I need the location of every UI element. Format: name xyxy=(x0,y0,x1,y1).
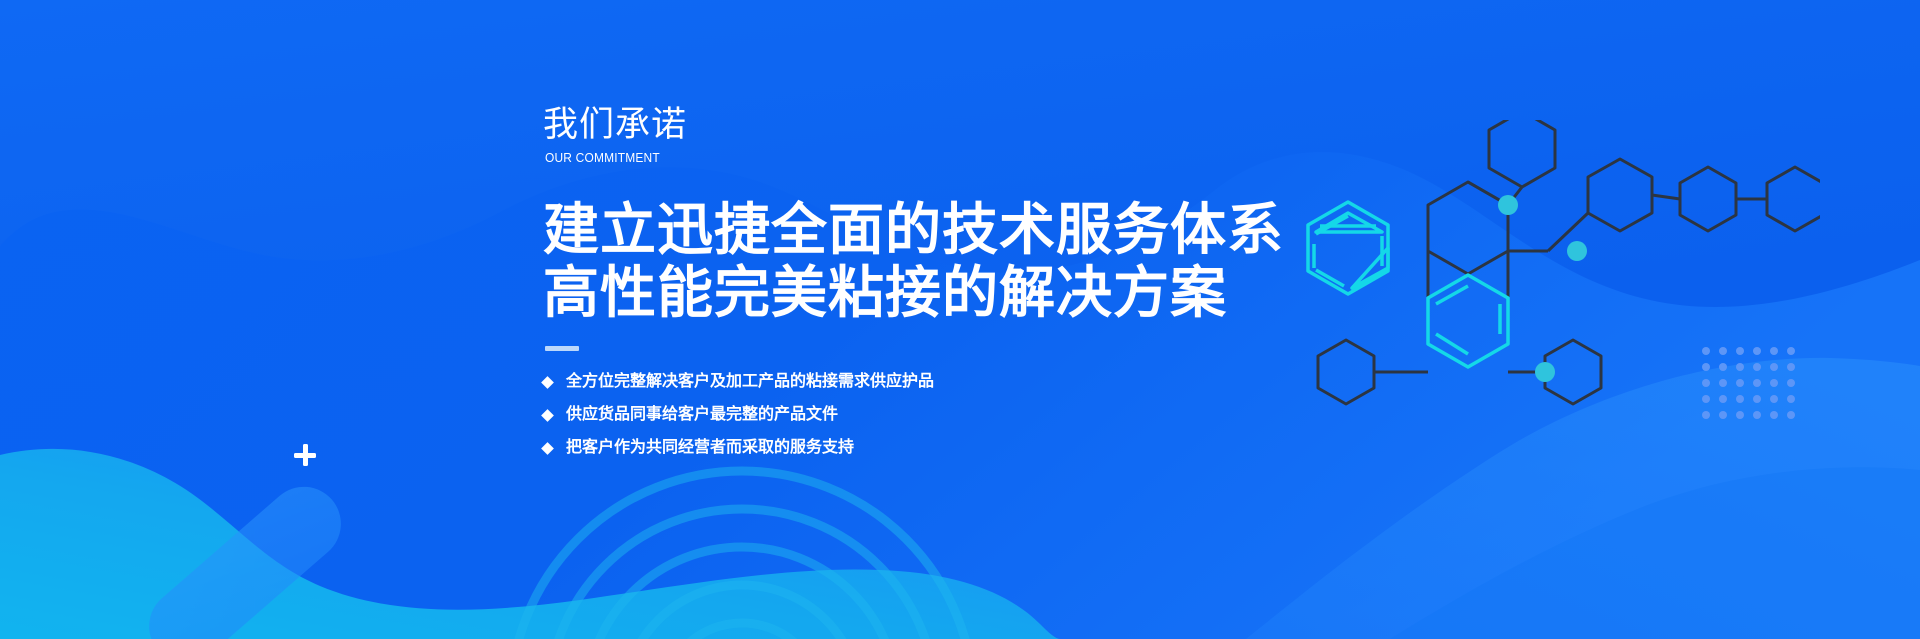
headline: 建立迅捷全面的技术服务体系 高性能完美粘接的解决方案 xyxy=(543,198,1303,324)
commitment-list: 全方位完整解决客户及加工产品的粘接需求供应护品 供应货品同事给客户最完整的产品文… xyxy=(543,371,1303,459)
plus-icon xyxy=(293,443,317,467)
dot-grid-pattern xyxy=(1700,345,1800,421)
list-item-label: 供应货品同事给客户最完整的产品文件 xyxy=(566,404,838,426)
list-item-label: 把客户作为共同经营者而采取的服务支持 xyxy=(566,437,854,459)
banner-content: 我们承诺 OUR COMMITMENT 建立迅捷全面的技术服务体系 高性能完美粘… xyxy=(543,104,1303,470)
eyebrow-title-en: OUR COMMITMENT xyxy=(545,150,1242,166)
molecule-cyan-inner-bonds xyxy=(1316,226,1376,286)
divider-dash xyxy=(545,346,579,351)
eyebrow-title-cn: 我们承诺 xyxy=(543,104,1303,146)
promo-banner: 我们承诺 OUR COMMITMENT 建立迅捷全面的技术服务体系 高性能完美粘… xyxy=(0,0,1920,639)
molecule-nodes xyxy=(1498,195,1587,382)
list-item: 把客户作为共同经营者而采取的服务支持 xyxy=(543,437,1303,459)
headline-line-1: 建立迅捷全面的技术服务体系 xyxy=(543,198,1303,261)
diamond-bullet-icon xyxy=(541,442,554,455)
list-item-label: 全方位完整解决客户及加工产品的粘接需求供应护品 xyxy=(566,371,934,393)
diamond-bullet-icon xyxy=(541,409,554,422)
list-item: 供应货品同事给客户最完整的产品文件 xyxy=(543,404,1303,426)
headline-line-2: 高性能完美粘接的解决方案 xyxy=(543,261,1303,324)
diamond-bullet-icon xyxy=(541,376,554,389)
list-item: 全方位完整解决客户及加工产品的粘接需求供应护品 xyxy=(543,371,1303,393)
